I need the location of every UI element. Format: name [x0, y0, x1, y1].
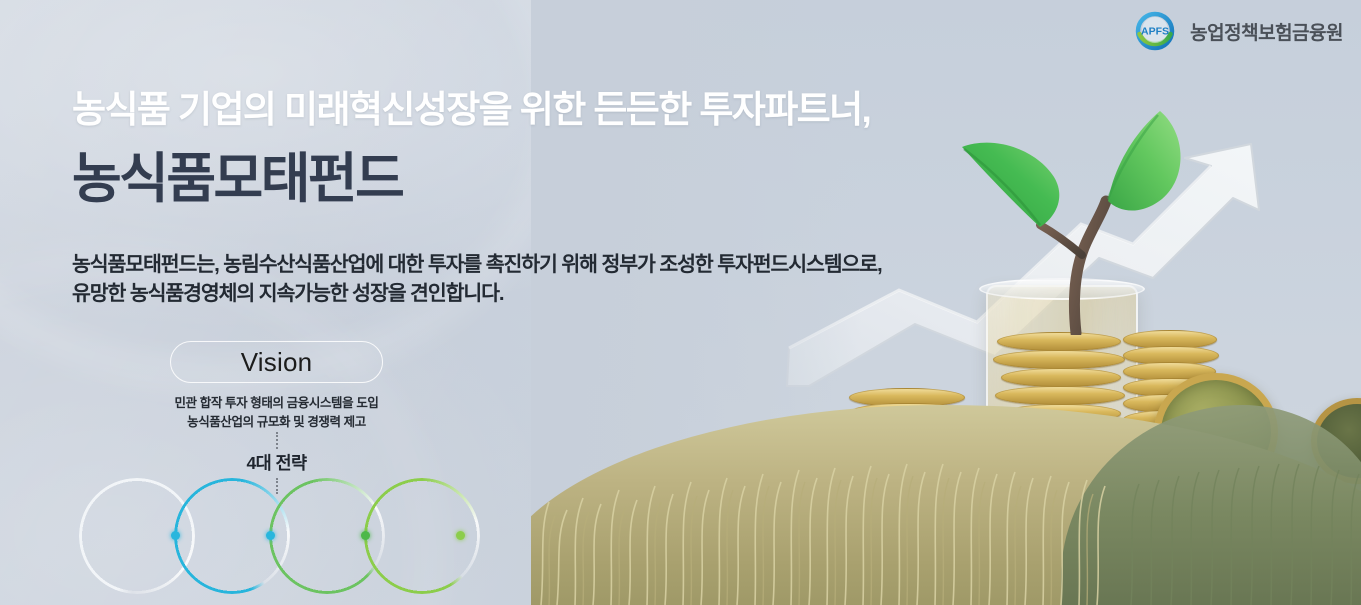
- vision-description-line1: 민관 합작 투자 형태의 금융시스템을 도입: [0, 394, 553, 413]
- strategy-3-line1: 농식품분야: [290, 516, 365, 536]
- strategy-node-dot-3: [361, 531, 370, 540]
- strategy-2-line2: 구축: [201, 536, 264, 556]
- strategy-1-line2: 수익성 조화: [106, 536, 169, 556]
- hero-description-line1: 농식품모태펀드는, 농림수산식품산업에 대한 투자를 촉진하기 위해 정부가 조…: [72, 250, 882, 279]
- apfs-abbr-text: APFS: [1141, 26, 1169, 38]
- vision-description: 민관 합작 투자 형태의 금융시스템을 도입 농식품산업의 규모화 및 경쟁력 …: [0, 394, 553, 433]
- vision-description-line2: 농식품산업의 규모화 및 경쟁력 제고: [0, 413, 553, 432]
- promo-banner: APFS 농업정책보험금융원 농식품 기업의 미래혁신성장을 위한 든든한 투자…: [0, 0, 1361, 605]
- org-logo[interactable]: APFS 농업정책보험금융원: [1132, 8, 1343, 54]
- strategy-1-line1: 공익성과: [106, 516, 169, 536]
- strategy-node-dot-1: [171, 531, 180, 540]
- grass-field-icon: [531, 390, 1361, 605]
- strategy-label-1: 공익성과 수익성 조화: [106, 516, 169, 557]
- hero-description-line2: 유망한 농식품경영체의 지속가능한 성장을 견인합니다.: [72, 279, 882, 308]
- strategy-label-3: 농식품분야 투자시장 조성: [290, 516, 365, 557]
- vision-label: Vision: [241, 347, 313, 378]
- org-name-text: 농업정책보험금융원: [1190, 18, 1343, 45]
- strategy-2-line1: 투자 인프라: [201, 516, 264, 536]
- vision-pill: Vision: [170, 341, 383, 383]
- page-title: 농식품모태펀드: [72, 134, 402, 213]
- strategy-4-line2: 기법 도입: [397, 536, 448, 556]
- strategy-circle-group: 공익성과 수익성 조화 투자 인프라 구축 농식품분야 투자시장 조성 선진 경…: [0, 478, 553, 603]
- strategy-heading: 4대 전략: [0, 450, 553, 475]
- hero-description: 농식품모태펀드는, 농림수산식품산업에 대한 투자를 촉진하기 위해 정부가 조…: [72, 250, 882, 308]
- strategy-label-2: 투자 인프라 구축: [201, 516, 264, 557]
- sprout-plant-icon: [936, 105, 1236, 335]
- strategy-node-dot-2: [266, 531, 275, 540]
- strategy-node-dot-4: [456, 531, 465, 540]
- strategy-4-line1: 선진 경영: [397, 516, 448, 536]
- apfs-circle-logo-icon: APFS: [1132, 8, 1178, 54]
- hero-tagline: 농식품 기업의 미래혁신성장을 위한 든든한 투자파트너,: [72, 79, 870, 133]
- strategy-3-line2: 투자시장 조성: [290, 536, 365, 556]
- strategy-label-4: 선진 경영 기법 도입: [397, 516, 448, 557]
- connector-dotted-top: [276, 432, 278, 449]
